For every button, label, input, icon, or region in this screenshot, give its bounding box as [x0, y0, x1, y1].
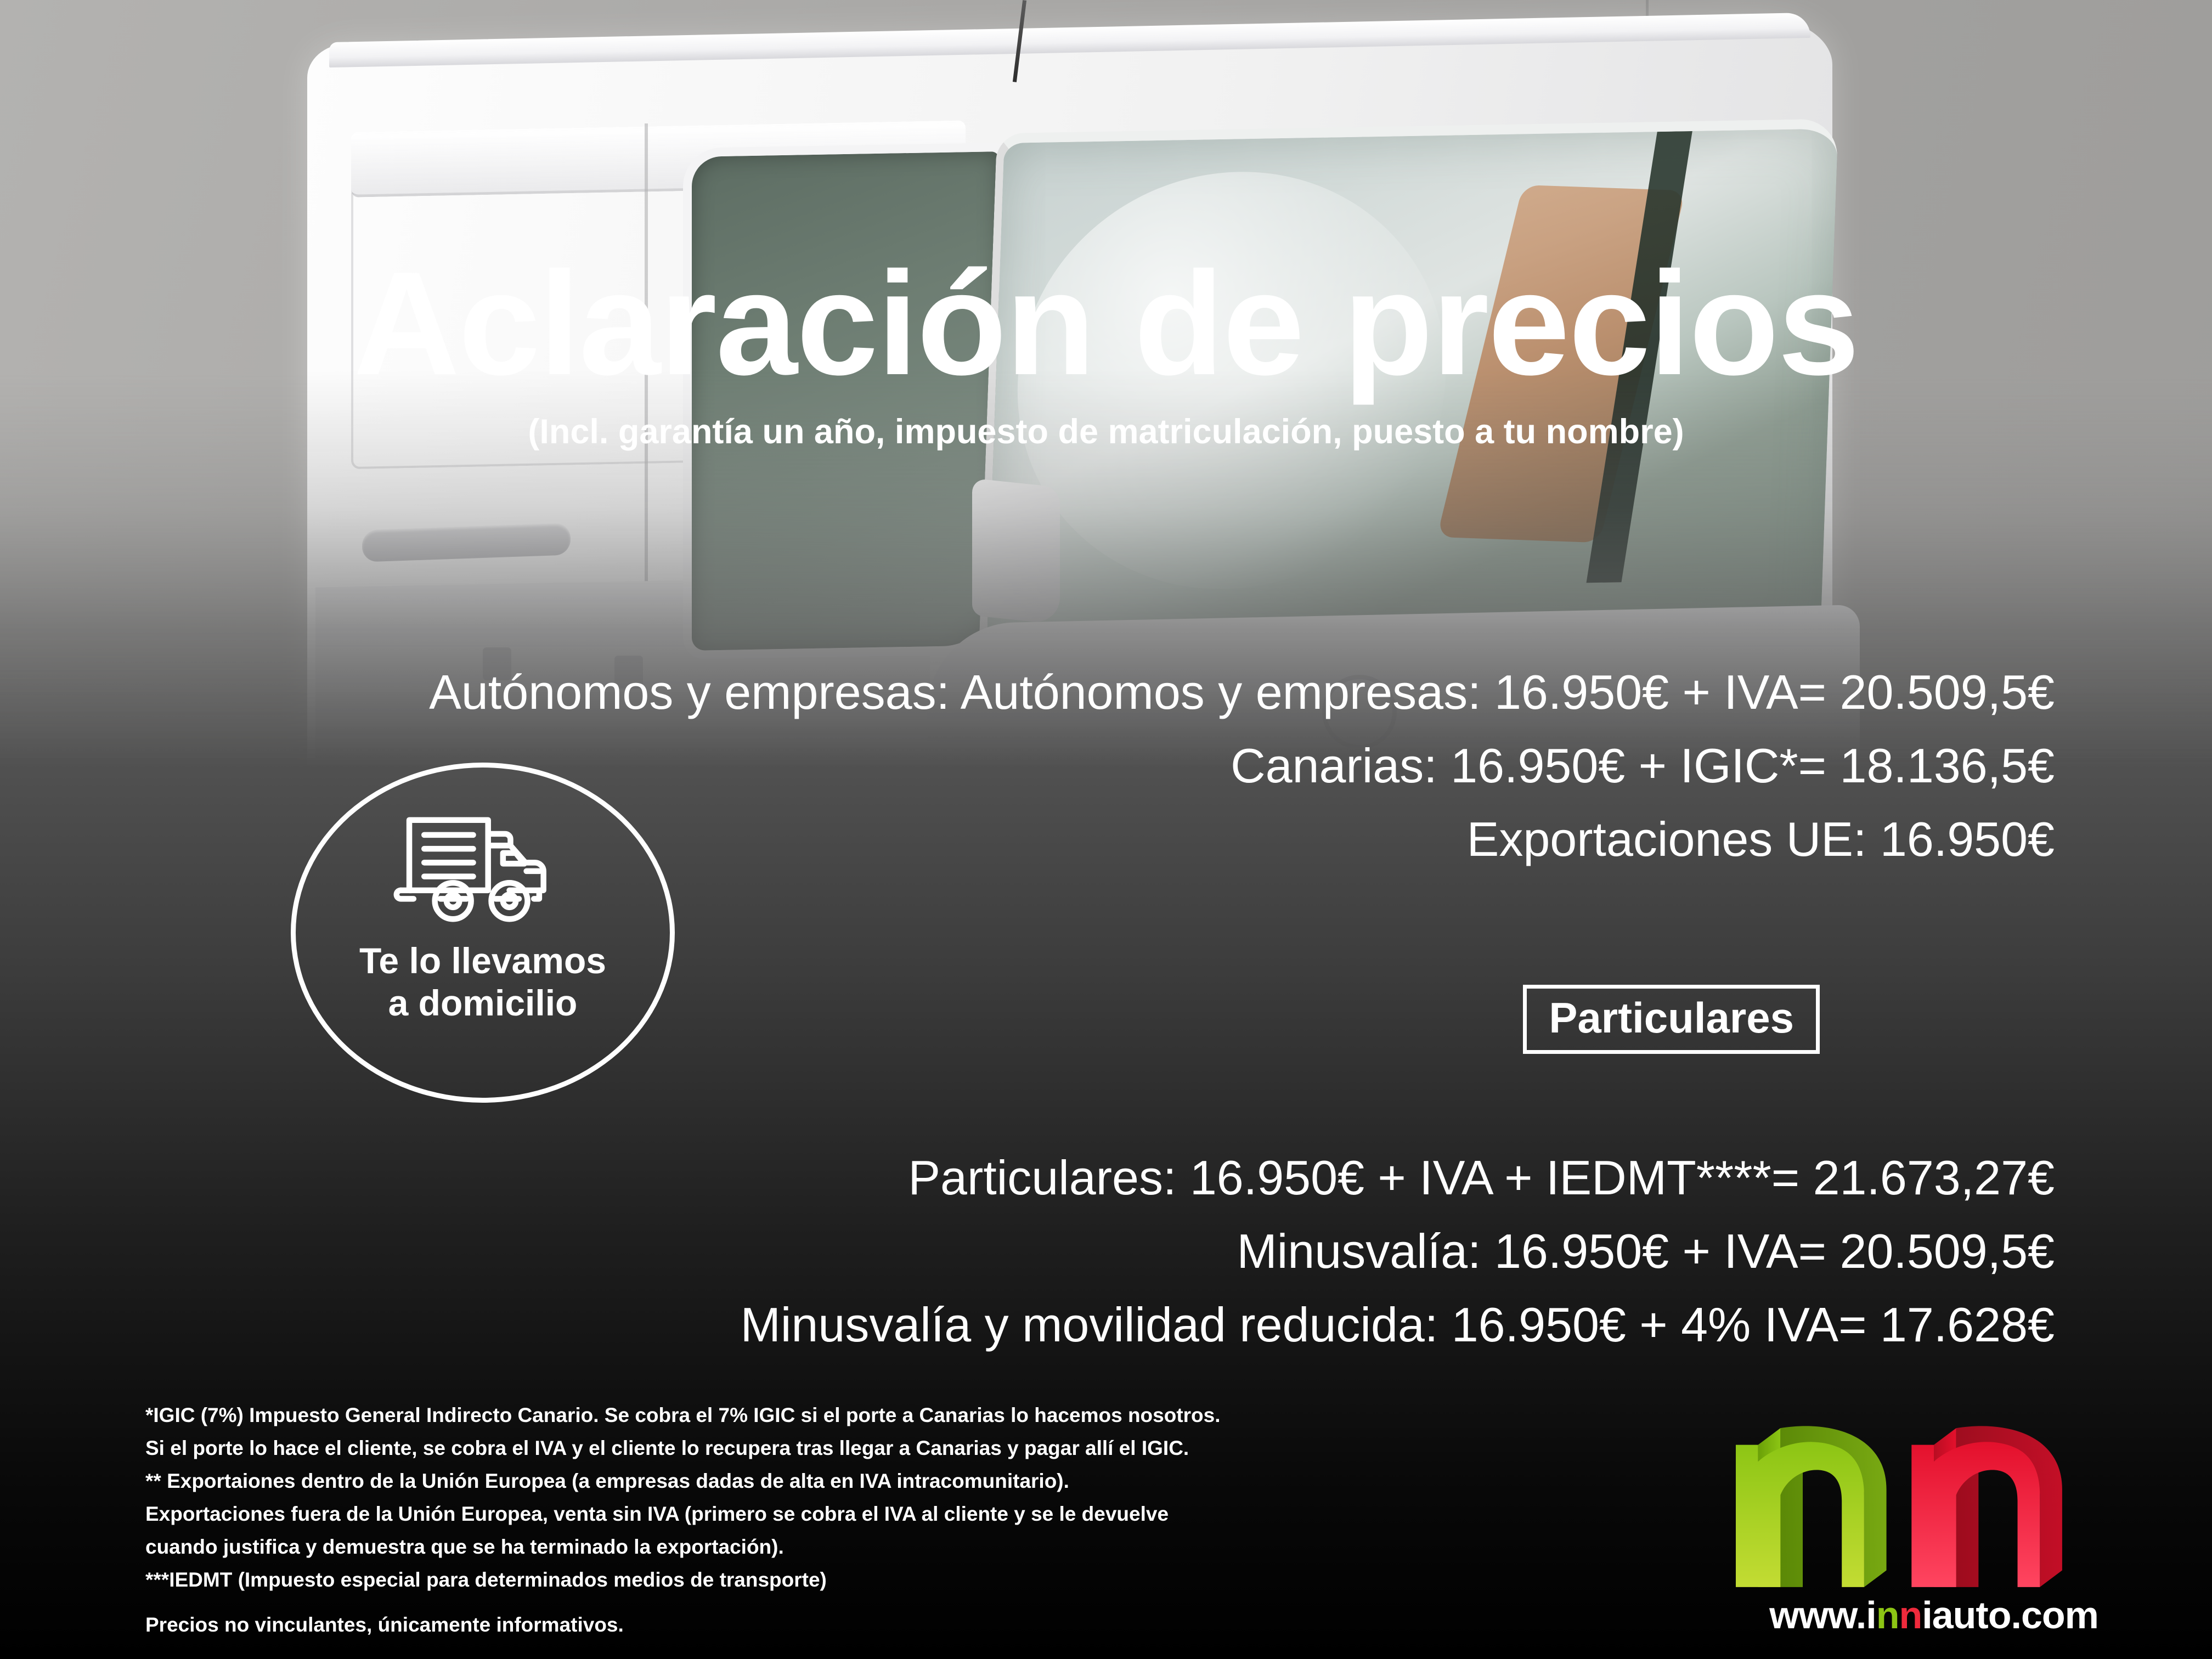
- price-line-particulares: Particulares: 16.950€ + IVA + IEDMT****=…: [741, 1141, 2055, 1215]
- brand-logo[interactable]: www.inniauto.com: [1717, 1425, 2151, 1637]
- headline-block: Aclaración de precios (Incl. garantía un…: [0, 250, 2212, 452]
- price-line-minusvalia-movilidad: Minusvalía y movilidad reducida: 16.950€…: [741, 1288, 2055, 1362]
- url-n-red: n: [1899, 1594, 1922, 1637]
- price-line-autonomos: Autónomos y empresas: Autónomos y empres…: [429, 656, 2055, 729]
- page-subtitle: (Incl. garantía un año, impuesto de matr…: [0, 412, 2212, 452]
- footnote-disclaimer: Precios no vinculantes, únicamente infor…: [145, 1609, 1297, 1641]
- footnote-line: *IGIC (7%) Impuesto General Indirecto Ca…: [145, 1399, 1297, 1432]
- footnote-line: ***IEDMT (Impuesto especial para determi…: [145, 1564, 1297, 1596]
- url-n-green: n: [1876, 1594, 1899, 1637]
- private-price-list: Particulares: 16.950€ + IVA + IEDMT****=…: [741, 1141, 2055, 1361]
- delivery-badge-label: Te lo llevamos a domicilio: [359, 940, 606, 1024]
- footnote-line: Si el porte lo hace el cliente, se cobra…: [145, 1432, 1297, 1465]
- url-suffix: iauto.com: [1922, 1594, 2098, 1637]
- footnote-spacer: [145, 1596, 1297, 1609]
- particulares-section-badge: Particulares: [1523, 985, 1820, 1054]
- nn-logo-mark: [1717, 1425, 2151, 1590]
- footnote-line: Exportaciones fuera de la Unión Europea,…: [145, 1498, 1297, 1531]
- price-clarification-poster: Aclaración de precios (Incl. garantía un…: [0, 0, 2212, 1659]
- page-title: Aclaración de precios: [0, 250, 2212, 397]
- price-line-canarias: Canarias: 16.950€ + IGIC*= 18.136,5€: [429, 729, 2055, 803]
- footnote-line: ** Exportaiones dentro de la Unión Europ…: [145, 1465, 1297, 1498]
- brand-url[interactable]: www.inniauto.com: [1717, 1593, 2151, 1637]
- van-side-mirror: [972, 478, 1060, 625]
- business-price-list: Autónomos y empresas: Autónomos y empres…: [429, 656, 2055, 876]
- price-line-exportaciones: Exportaciones UE: 16.950€: [429, 803, 2055, 876]
- url-prefix: www.i: [1769, 1594, 1876, 1637]
- footnote-line: cuando justifica y demuestra que se ha t…: [145, 1531, 1297, 1564]
- price-line-minusvalia: Minusvalía: 16.950€ + IVA= 20.509,5€: [741, 1215, 2055, 1288]
- footnotes-block: *IGIC (7%) Impuesto General Indirecto Ca…: [145, 1399, 1297, 1641]
- nn-logo-svg: [1717, 1425, 2151, 1590]
